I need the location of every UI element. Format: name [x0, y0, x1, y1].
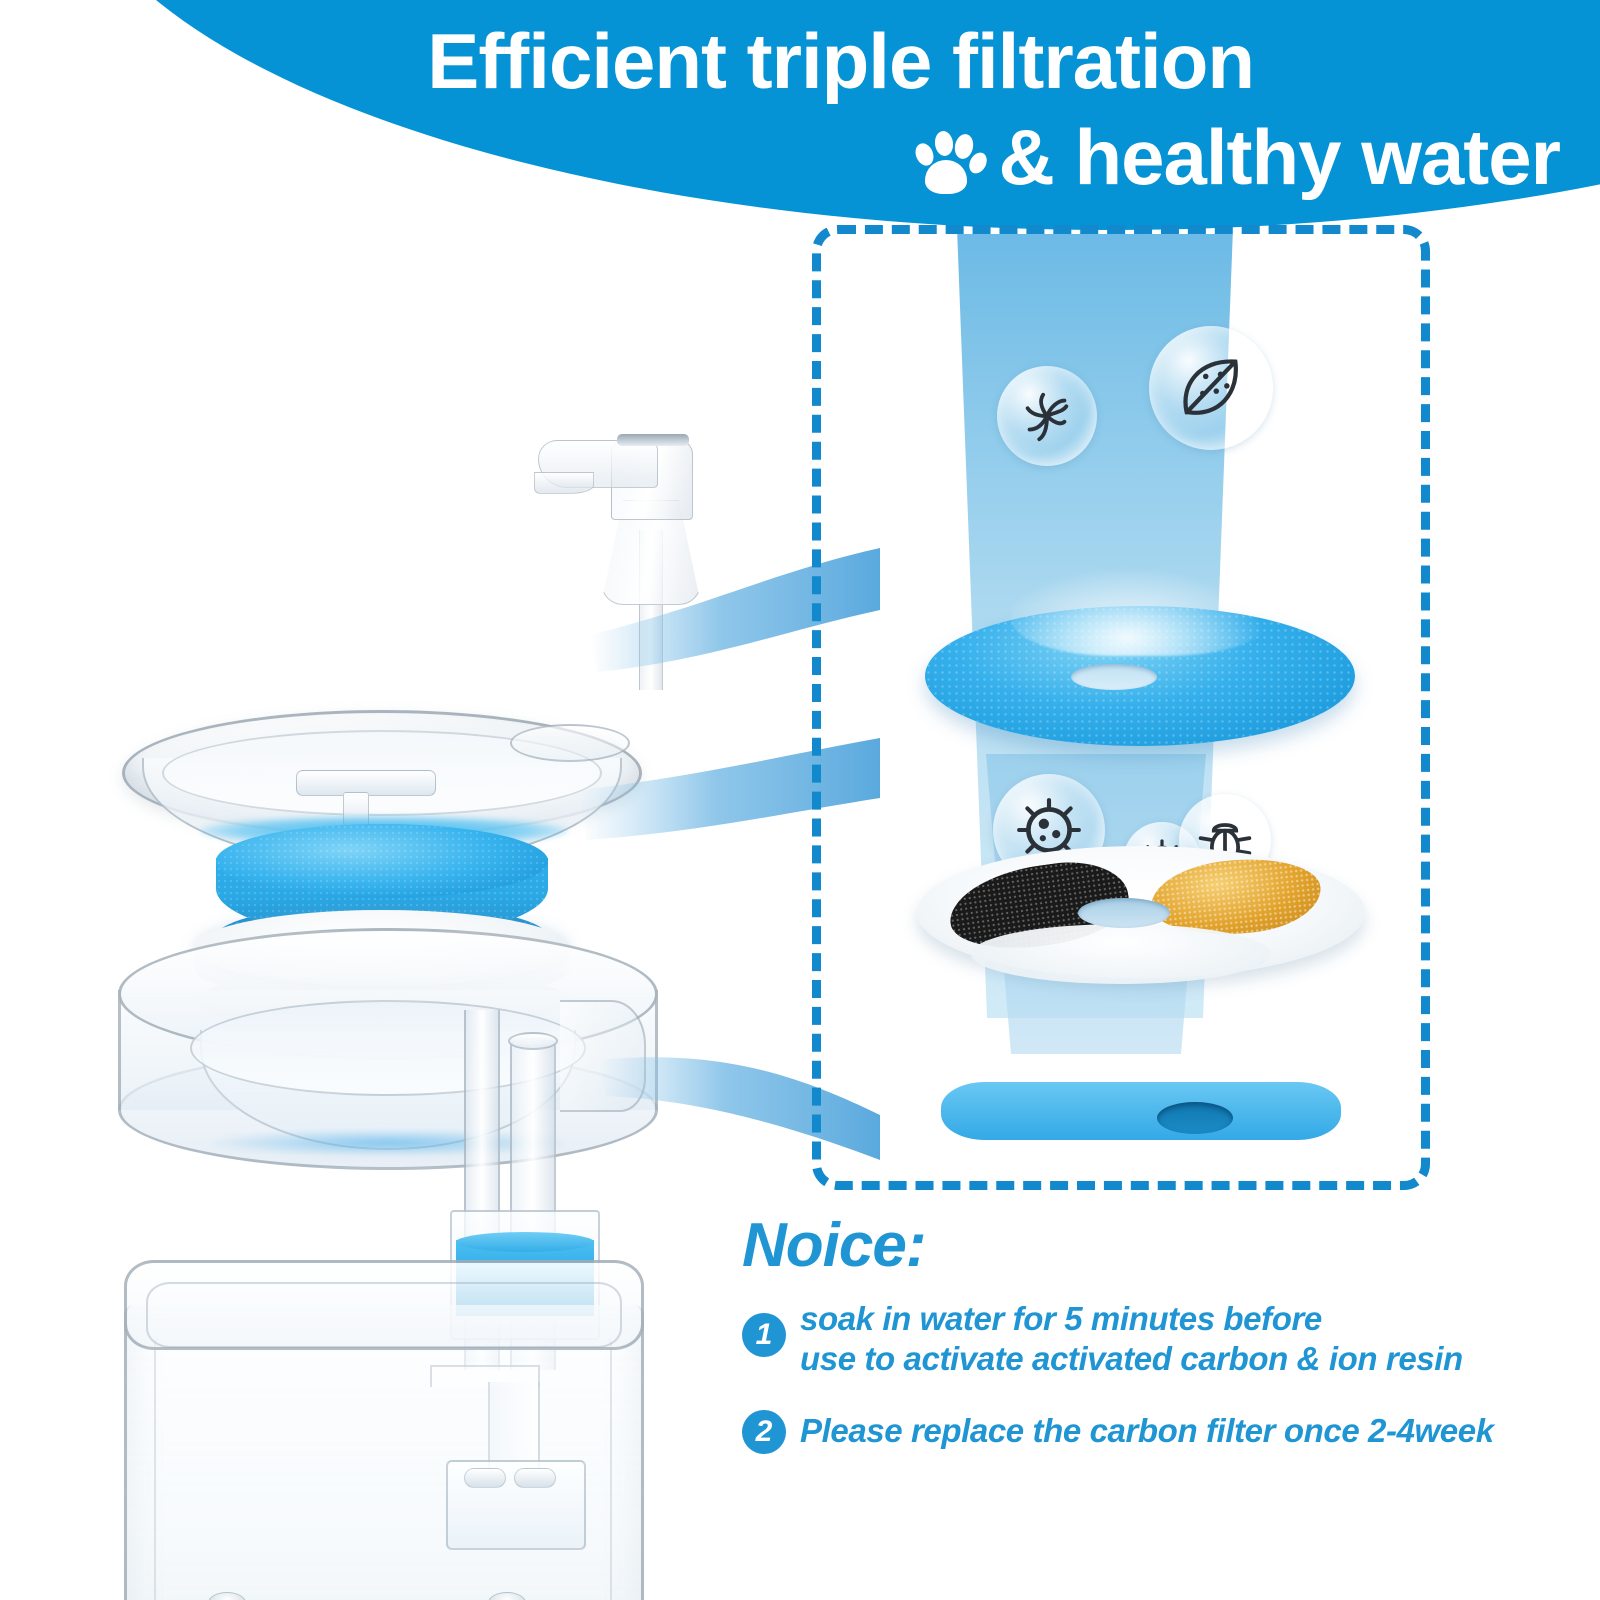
leaf-debris-icon: [1174, 351, 1248, 425]
bubble-leaf: [1149, 326, 1273, 450]
bottom-sponge-hole: [1157, 1102, 1233, 1134]
hair-strand-icon: [1018, 387, 1076, 445]
notice-text-1-line2: use to activate activated carbon & ion r…: [800, 1339, 1463, 1379]
filter-disc-white-section: [971, 924, 1271, 984]
bottom-sponge-block: [941, 1082, 1341, 1140]
spout-lip: [534, 472, 594, 494]
notice-item-1: 1 soak in water for 5 minutes before use…: [742, 1299, 1592, 1380]
notice-text-2: Please replace the carbon filter once 2-…: [800, 1411, 1494, 1451]
pump-nub-right: [514, 1468, 556, 1488]
filtration-diagram-panel: improvethe taste healthy H2O: [812, 225, 1430, 1190]
water-tank-rim-inner: [146, 1282, 622, 1348]
filtration-diagram-inner: improvethe taste healthy H2O: [821, 234, 1421, 1181]
pump-sponge-top: [456, 1232, 594, 1252]
pump-nub-left: [464, 1468, 506, 1488]
notice-text-1-line1: soak in water for 5 minutes before: [800, 1299, 1463, 1339]
notice-badge-1: 1: [742, 1313, 786, 1357]
water-splash-top: [1011, 564, 1271, 656]
notice-title: Noice:: [742, 1215, 1592, 1277]
paw-print-icon: [912, 124, 984, 190]
header-text-block: Efficient triple filtration & healthy wa…: [0, 0, 1600, 230]
header-title-line2-row: & healthy water: [0, 100, 1566, 196]
header-title-line2: & healthy water: [998, 118, 1560, 196]
pump-stem: [488, 1382, 540, 1468]
header-title-line1: Efficient triple filtration: [0, 10, 1566, 100]
spout-cap: [617, 434, 689, 446]
bubble-hair: [997, 366, 1097, 466]
notice-block: Noice: 1 soak in water for 5 minutes bef…: [742, 1215, 1592, 1454]
infographic-root: Efficient triple filtration & healthy wa…: [0, 0, 1600, 1600]
notice-text-1: soak in water for 5 minutes before use t…: [800, 1299, 1463, 1380]
carbon-filter-disc-hole: [1078, 898, 1170, 928]
blue-sponge-filter-hole: [1071, 664, 1157, 690]
notice-badge-2: 2: [742, 1410, 786, 1454]
riser-tube-cap: [508, 1032, 558, 1050]
header-banner: Efficient triple filtration & healthy wa…: [0, 0, 1600, 230]
notice-item-2: 2 Please replace the carbon filter once …: [742, 1410, 1592, 1454]
